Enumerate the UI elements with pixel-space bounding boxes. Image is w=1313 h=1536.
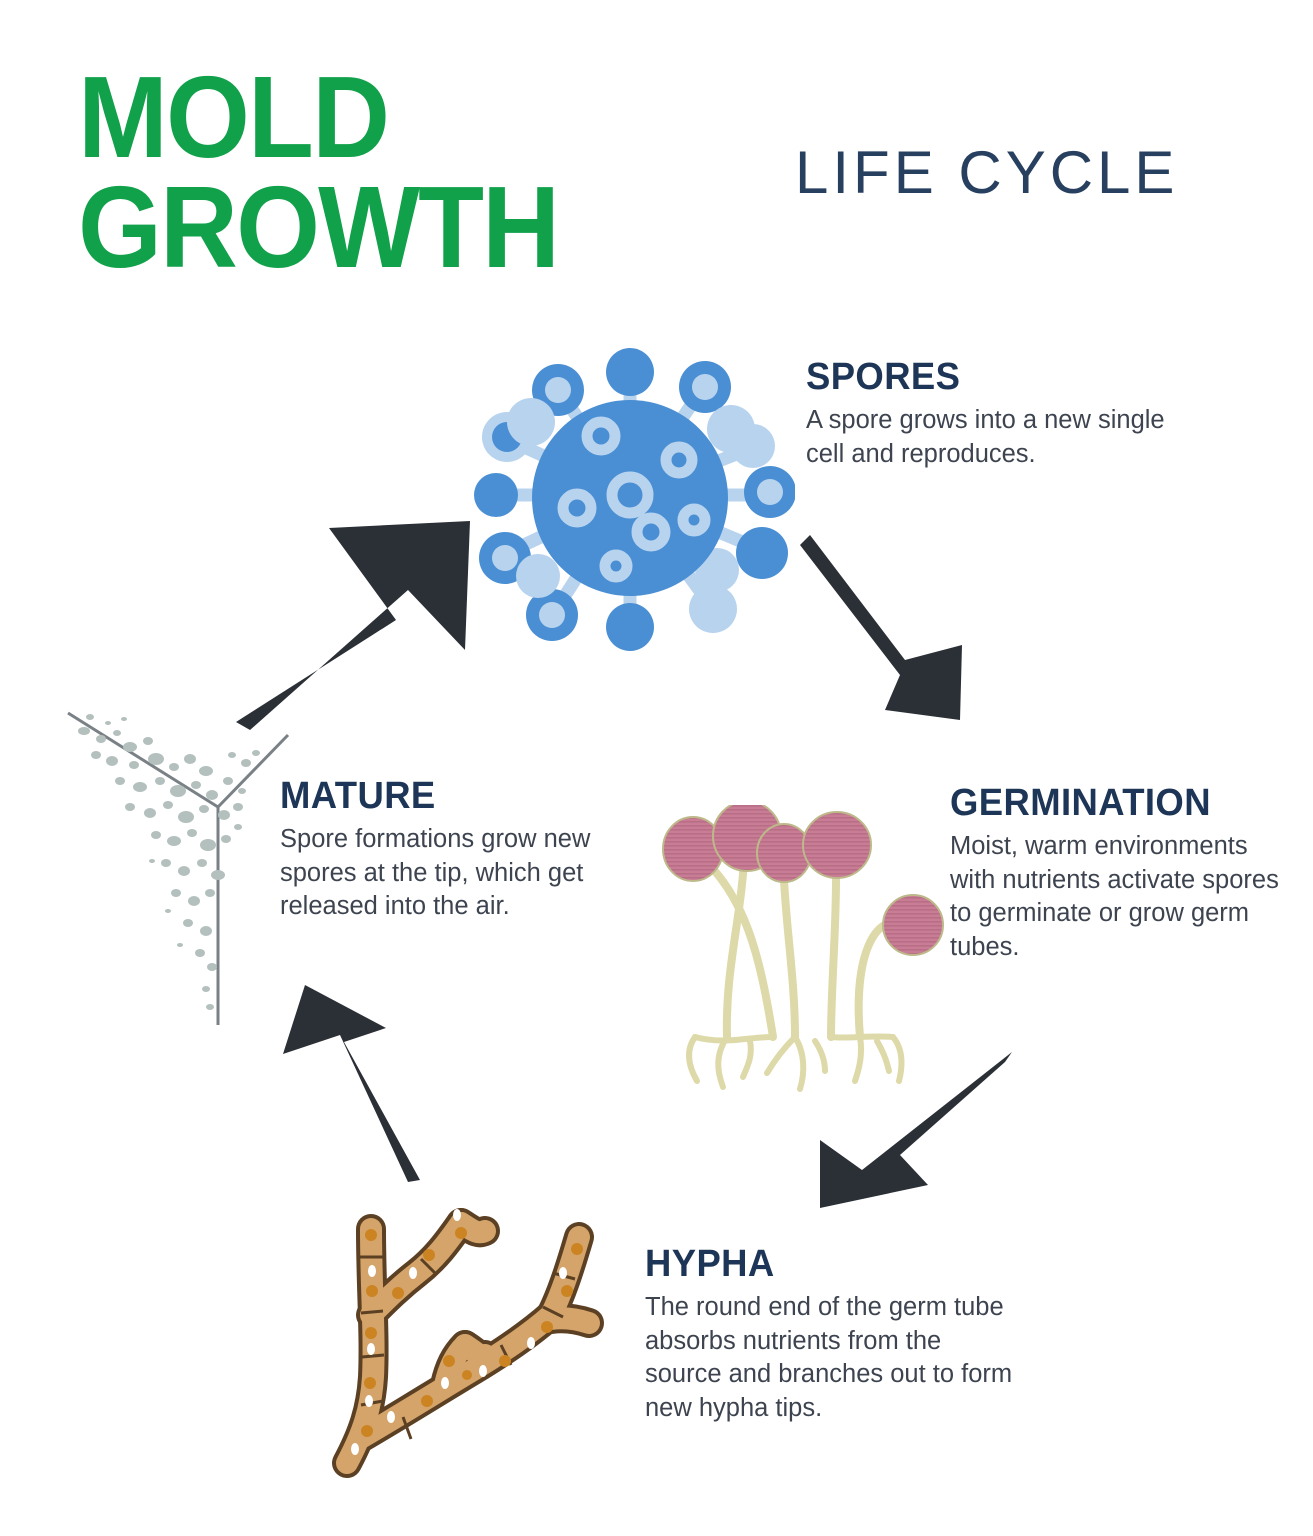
stage-germination: GERMINATION Moist, warm environments wit…: [950, 784, 1290, 965]
released-spore-specks: [78, 714, 260, 1010]
page-subtitle: LIFE CYCLE: [795, 138, 1178, 207]
spore-cell-icon: [465, 330, 795, 660]
sporangiophore-icon: [655, 805, 965, 1105]
stage-hypha: HYPHA The round end of the germ tube abs…: [645, 1245, 1015, 1426]
page-title: MOLD GROWTH: [78, 62, 673, 282]
stage-hypha-body: The round end of the germ tube absorbs n…: [645, 1291, 1015, 1426]
arrow-spores-to-germination: [800, 535, 962, 720]
stage-spores: SPORES A spore grows into a new single c…: [806, 358, 1166, 471]
branching-hypha-icon: [325, 1195, 625, 1495]
germ-heads: [663, 805, 943, 955]
stage-spores-body: A spore grows into a new single cell and…: [806, 404, 1166, 471]
germ-roots: [689, 1036, 901, 1089]
stage-hypha-heading: HYPHA: [645, 1245, 1000, 1285]
stage-mature-heading: MATURE: [280, 777, 587, 817]
stage-spores-heading: SPORES: [806, 358, 1152, 398]
stage-mature: MATURE Spore formations grow new spores …: [280, 777, 600, 924]
stage-germination-heading: GERMINATION: [950, 784, 1276, 824]
wall-corner-lines: [68, 713, 288, 1025]
stage-mature-body: Spore formations grow new spores at the …: [280, 823, 600, 924]
stage-germination-body: Moist, warm environments with nutrients …: [950, 830, 1290, 965]
infographic-canvas: MOLD GROWTH LIFE CYCLE: [0, 0, 1313, 1536]
